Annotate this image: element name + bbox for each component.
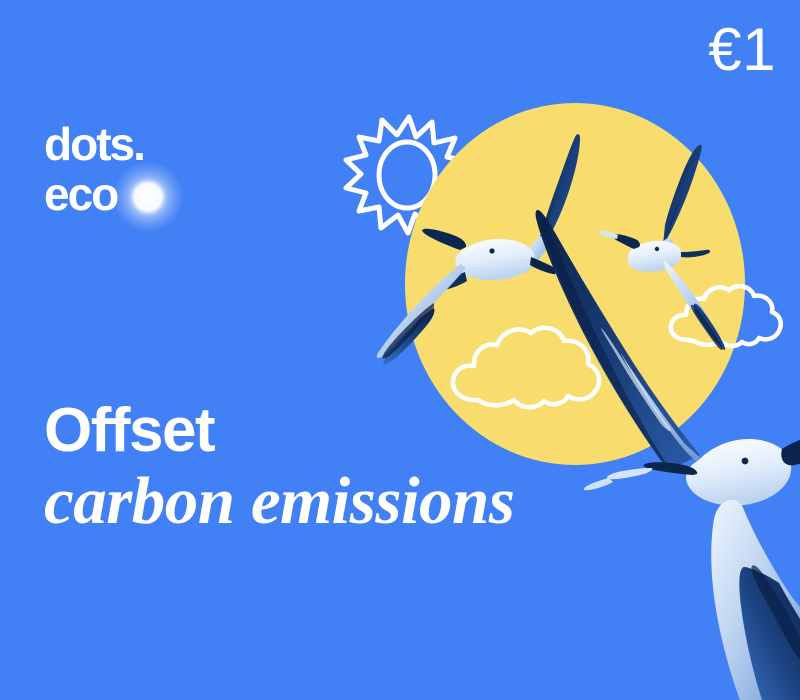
- artwork-layer: [0, 0, 800, 700]
- logo-line-2: eco: [44, 168, 118, 220]
- brand-logo[interactable]: dots. eco: [44, 126, 284, 236]
- logo-line-1: dots.: [44, 118, 144, 170]
- headline: Offset carbon emissions: [40, 400, 660, 535]
- headline-line-1: Offset: [44, 400, 660, 462]
- logo-dot-glow-icon: [112, 161, 184, 233]
- headline-line-2: carbon emissions: [44, 468, 660, 535]
- offset-banner: €1 dots. eco Offset carbon emissions: [0, 0, 800, 700]
- price-label: €1: [708, 20, 776, 80]
